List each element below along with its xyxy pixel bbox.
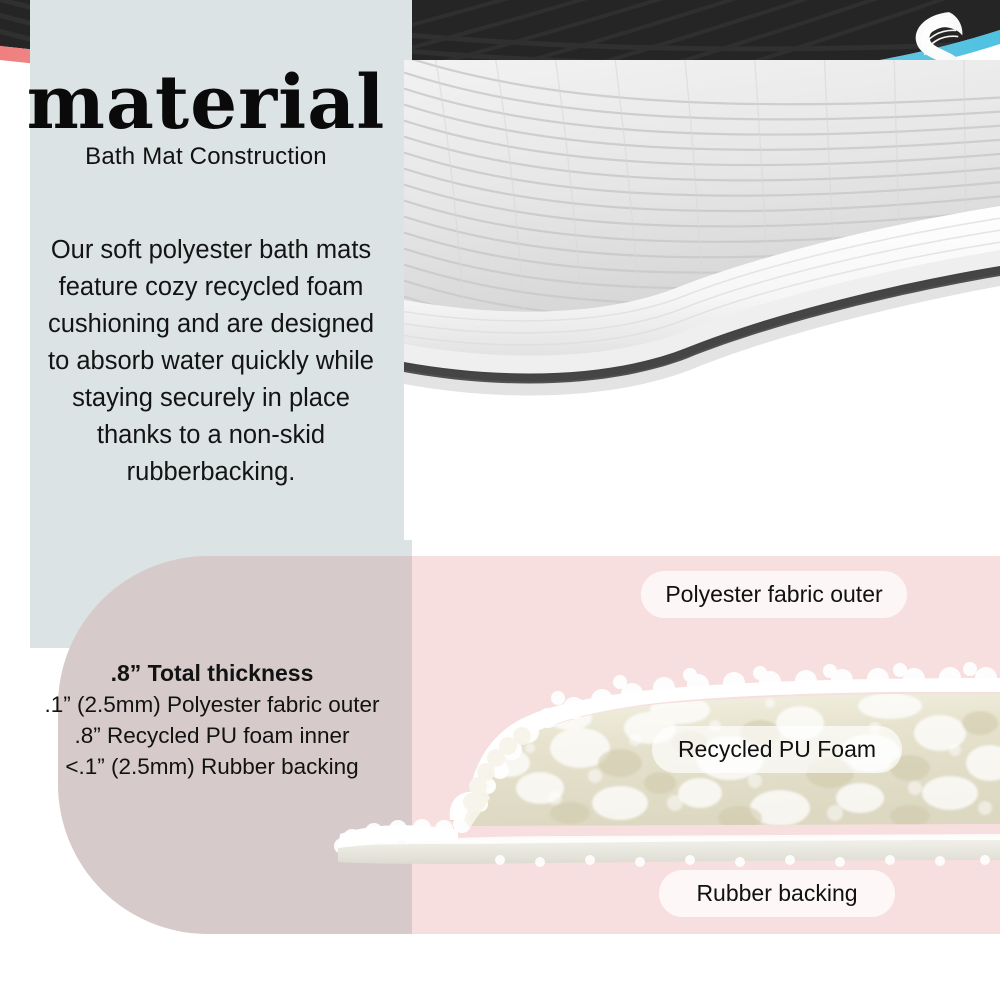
spec-total-thickness: .8” Total thickness	[36, 657, 388, 689]
page-subtitle: Bath Mat Construction	[0, 143, 412, 171]
spec-list: .8” Total thickness .1” (2.5mm) Polyeste…	[36, 657, 388, 782]
spec-layer-rubber: <.1” (2.5mm) Rubber backing	[36, 751, 388, 782]
callout-rubber-backing: Rubber backing	[659, 870, 895, 917]
callout-recycled-pu-foam: Recycled PU Foam	[652, 726, 902, 773]
description-paragraph: Our soft polyester bath mats feature coz…	[38, 232, 384, 491]
spec-layer-foam: .8” Recycled PU foam inner	[36, 720, 388, 751]
page-title: material	[0, 66, 412, 140]
infographic-canvas: material Bath Mat Construction Our soft …	[0, 0, 1000, 1000]
callout-polyester-fabric-outer: Polyester fabric outer	[641, 571, 907, 618]
spec-layer-fabric: .1” (2.5mm) Polyester fabric outer	[36, 689, 388, 720]
bath-mat-corner-photo	[404, 60, 1000, 540]
